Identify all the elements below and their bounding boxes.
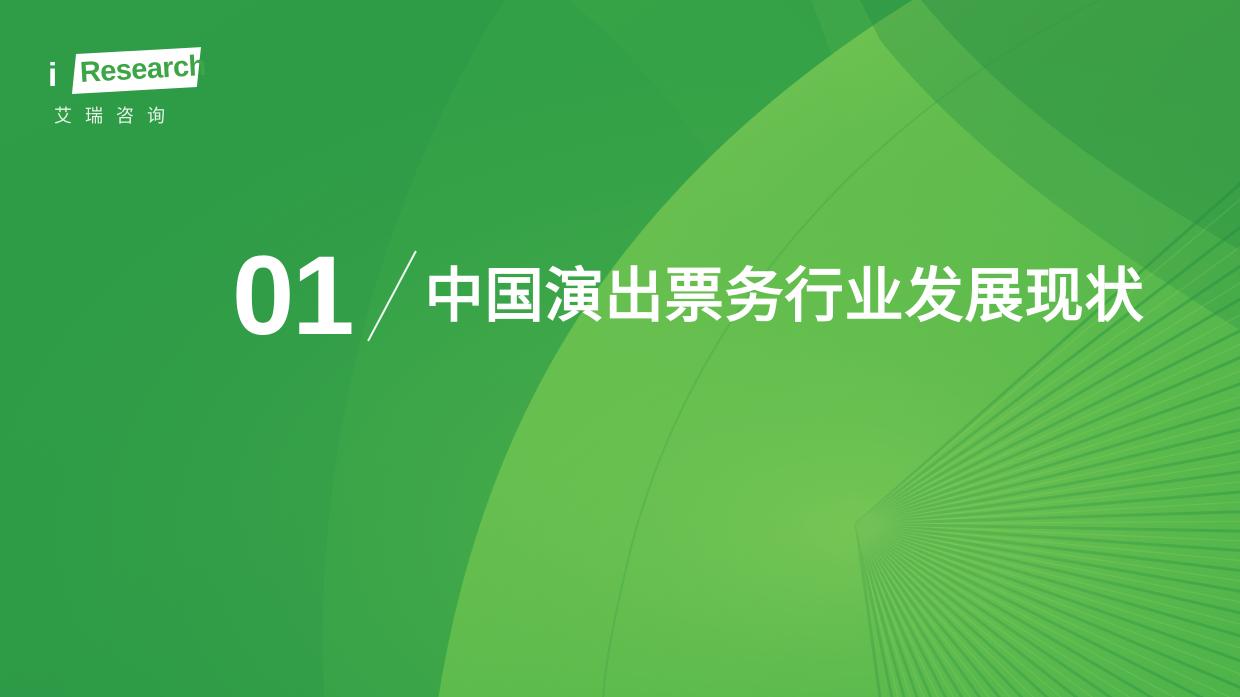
logo-wordmark: Research	[79, 52, 206, 88]
logo-subtitle: 艾瑞咨询	[54, 107, 178, 127]
section-number: 01	[232, 240, 353, 352]
logo-letter-i: i	[48, 58, 57, 91]
section-title: 中国演出票务行业发展现状	[425, 265, 1145, 327]
logo-mark: i Research	[48, 52, 198, 100]
iresearch-logo: i Research 艾瑞咨询	[48, 52, 228, 144]
slash-divider-icon	[353, 236, 429, 356]
section-headline: 01 中国演出票务行业发展现状	[232, 236, 1145, 356]
presentation-slide: i Research 艾瑞咨询 01 中国演出票务行业发展现状	[0, 0, 1240, 697]
